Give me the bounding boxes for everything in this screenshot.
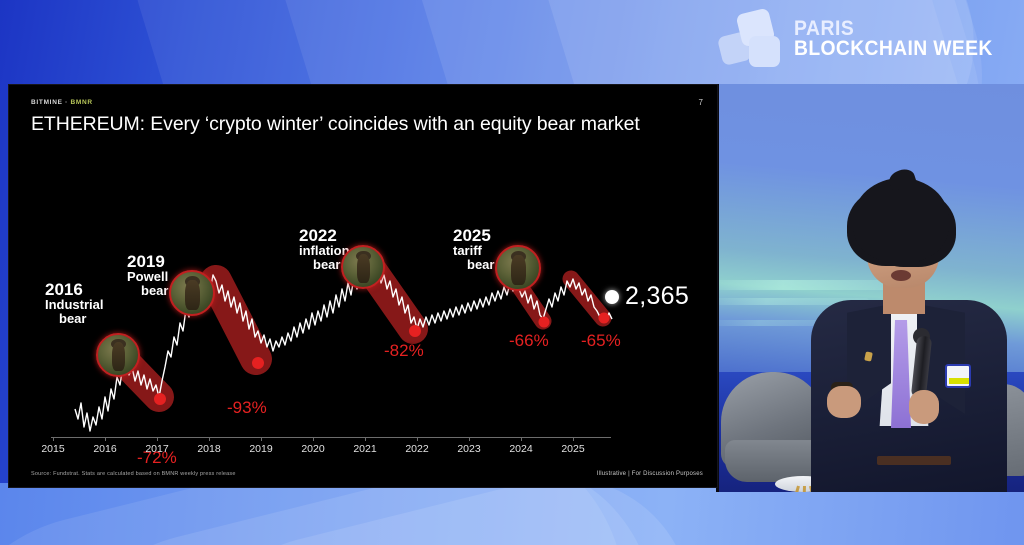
annotation-line3: bear xyxy=(141,284,168,298)
x-axis-tick xyxy=(469,437,470,441)
slide-source-note: Source: Fundstrat. Stats are calculated … xyxy=(31,471,236,477)
drawdown-label-2025: -66% xyxy=(509,331,549,351)
speaker-badge xyxy=(945,364,971,388)
x-axis-tick xyxy=(53,437,54,441)
bear-photo-bubble-2025 xyxy=(495,245,541,291)
blockchain-blocks-icon xyxy=(720,8,784,70)
annotation-line3: bear xyxy=(467,258,494,272)
drawdown-label-2022: -82% xyxy=(384,341,424,361)
current-value-dot-icon xyxy=(605,290,619,304)
current-value-text: 2,365 xyxy=(625,282,689,311)
speaker-hand-right xyxy=(909,390,939,424)
x-axis-label: 2020 xyxy=(301,443,324,455)
x-axis-label: 2021 xyxy=(353,443,376,455)
chart-x-axis: 2015201620172018201920202021202220232024… xyxy=(31,437,699,467)
speaker-video-panel xyxy=(716,84,1024,492)
x-axis-tick xyxy=(157,437,158,441)
background-bottom-band xyxy=(0,483,1024,545)
annotation-year: 2016 xyxy=(45,281,104,298)
x-axis-tick xyxy=(313,437,314,441)
annotation-line2: Powell xyxy=(127,270,168,284)
x-axis-label: 2025 xyxy=(561,443,584,455)
brand-separator: · xyxy=(63,99,71,106)
x-axis-label: 2018 xyxy=(197,443,220,455)
slide-page-number: 7 xyxy=(699,98,703,107)
x-axis-tick xyxy=(105,437,106,441)
annotation-line3: bear xyxy=(59,312,104,326)
annotation-line2: inflation xyxy=(299,244,350,258)
paris-blockchain-week-logo: PARIS BLOCKCHAIN WEEK xyxy=(720,8,1010,70)
event-logo-line2: BLOCKCHAIN WEEK xyxy=(794,39,993,59)
annotation-year: 2019 xyxy=(127,253,168,270)
slide-disclaimer: Illustrative | For Discussion Purposes xyxy=(597,471,703,477)
current-value-callout: 2,365 xyxy=(605,282,689,311)
x-axis-label: 2023 xyxy=(457,443,480,455)
x-axis-label: 2022 xyxy=(405,443,428,455)
x-axis-tick xyxy=(521,437,522,441)
brand-company: BITMINE xyxy=(31,99,63,106)
annotation-line2: Industrial xyxy=(45,298,104,312)
x-axis-label: 2017 xyxy=(145,443,168,455)
annotation-year: 2022 xyxy=(299,227,350,244)
speaker-hair xyxy=(853,178,949,262)
annotation-year: 2025 xyxy=(453,227,494,244)
x-axis-line xyxy=(51,437,611,438)
x-axis-tick xyxy=(573,437,574,441)
event-logo-text: PARIS BLOCKCHAIN WEEK xyxy=(794,19,1010,59)
speaker-hand-left xyxy=(827,386,861,418)
bear-photo-bubble-2016 xyxy=(96,333,140,377)
broadcast-stage: PARIS BLOCKCHAIN WEEK xyxy=(0,0,1024,545)
annotation-bear-2025: 2025 tariff bear xyxy=(453,227,494,271)
table-leg xyxy=(802,486,806,492)
x-axis-tick xyxy=(365,437,366,441)
drawdown-label-2025b: -65% xyxy=(581,331,621,351)
presentation-slide: BITMINE · BMNR 7 ETHEREUM: Every ‘crypto… xyxy=(8,84,718,488)
x-axis-label: 2024 xyxy=(509,443,532,455)
x-axis-label: 2016 xyxy=(93,443,116,455)
slide-brand-eyebrow: BITMINE · BMNR xyxy=(31,99,93,106)
x-axis-tick xyxy=(209,437,210,441)
slide-title: ETHEREUM: Every ‘crypto winter’ coincide… xyxy=(31,113,640,136)
speaker-mouth xyxy=(891,270,911,281)
speaker-belt xyxy=(877,456,951,465)
bear-photo-bubble-2022 xyxy=(341,245,385,289)
x-axis-tick xyxy=(261,437,262,441)
annotation-line2: tariff xyxy=(453,244,494,258)
drawdown-label-2019: -93% xyxy=(227,398,267,418)
brand-ticker: BMNR xyxy=(71,99,93,106)
annotation-bear-2019: 2019 Powell bear xyxy=(127,253,168,297)
x-axis-tick xyxy=(417,437,418,441)
annotation-bear-2016: 2016 Industrial bear xyxy=(45,281,104,325)
bear-photo-bubble-2019 xyxy=(169,270,215,316)
event-logo-line1: PARIS xyxy=(794,19,993,39)
x-axis-label: 2015 xyxy=(41,443,64,455)
x-axis-label: 2019 xyxy=(249,443,272,455)
